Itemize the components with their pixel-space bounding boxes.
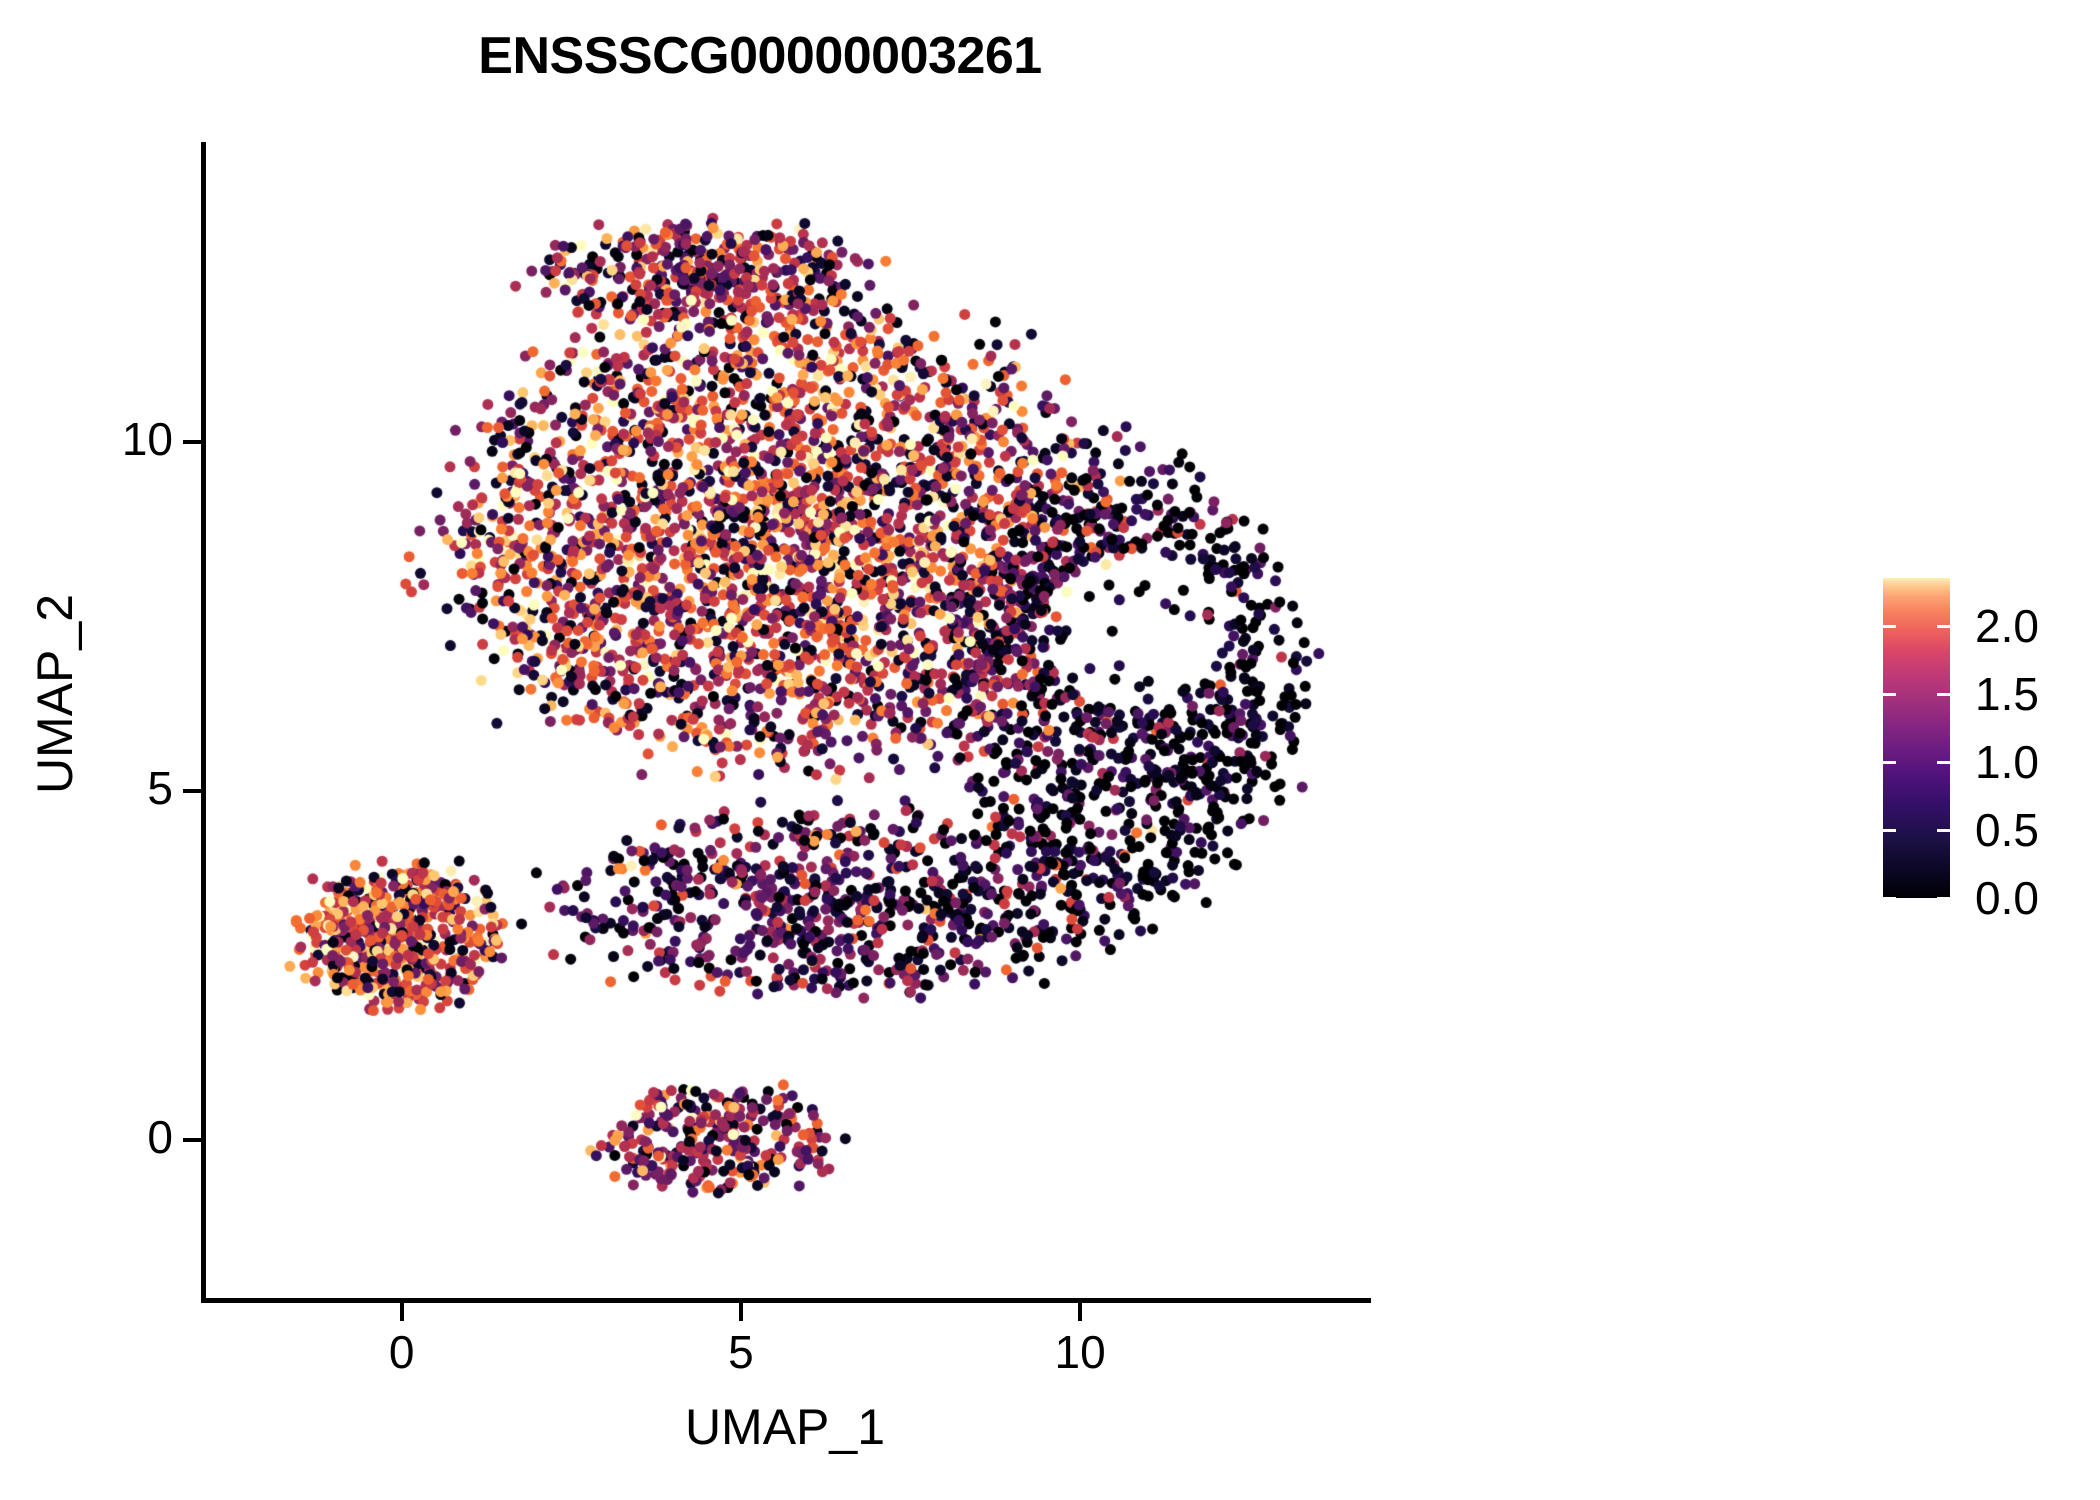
- x-axis-line: [201, 1298, 1371, 1303]
- plot-panel: [205, 142, 1365, 1300]
- colorbar-tick-mark: [1937, 897, 1950, 900]
- y-tick-label: 0: [33, 1110, 173, 1164]
- colorbar-tick-label: 0.5: [1975, 803, 2039, 857]
- y-tick-mark: [183, 440, 201, 444]
- y-axis-line: [201, 142, 206, 1302]
- colorbar-tick-mark: [1883, 761, 1896, 764]
- y-axis-title: UMAP_2: [26, 344, 84, 1044]
- colorbar-tick-mark: [1883, 897, 1896, 900]
- x-tick-label: 0: [332, 1325, 472, 1379]
- colorbar-legend: 0.00.51.01.52.0: [1883, 578, 2083, 898]
- colorbar-tick-mark: [1883, 829, 1896, 832]
- colorbar-tick-label: 0.0: [1975, 871, 2039, 925]
- colorbar-tick-mark: [1937, 761, 1950, 764]
- x-axis-title: UMAP_1: [205, 1398, 1365, 1456]
- colorbar-tick-label: 2.0: [1975, 599, 2039, 653]
- y-tick-mark: [183, 1138, 201, 1142]
- x-tick-label: 5: [671, 1325, 811, 1379]
- scatter-point-cloud: [205, 142, 1365, 1300]
- x-tick-label: 10: [1010, 1325, 1150, 1379]
- colorbar-tick-mark: [1937, 693, 1950, 696]
- x-tick-mark: [400, 1303, 404, 1321]
- colorbar-tick-mark: [1883, 625, 1896, 628]
- colorbar-tick-mark: [1937, 625, 1950, 628]
- umap-feature-plot: ENSSSCG00000003261 0510 0510 UMAP_1 UMAP…: [0, 0, 2100, 1500]
- colorbar-tick-mark: [1937, 829, 1950, 832]
- colorbar-tick-label: 1.5: [1975, 667, 2039, 721]
- page-title: ENSSSCG00000003261: [0, 26, 1520, 86]
- colorbar-tick-mark: [1883, 693, 1896, 696]
- colorbar-tick-label: 1.0: [1975, 735, 2039, 789]
- y-tick-mark: [183, 789, 201, 793]
- x-tick-mark: [1078, 1303, 1082, 1321]
- x-tick-mark: [739, 1303, 743, 1321]
